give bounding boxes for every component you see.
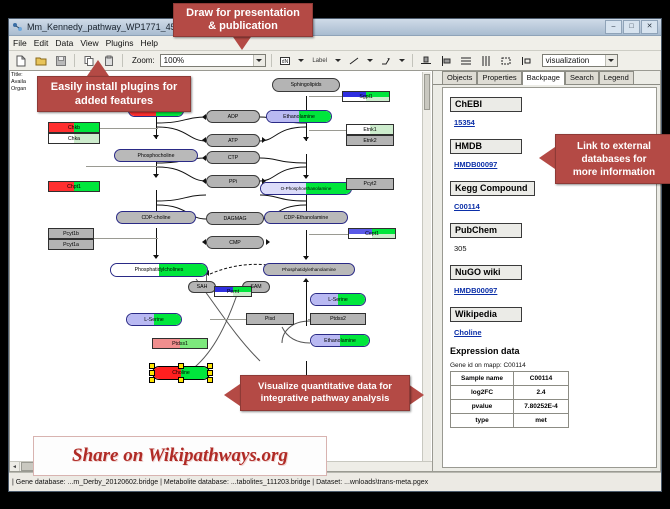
db-entry-nugo: NuGO wiki HMDB00097 [450,262,656,298]
arrow-icon [202,155,206,161]
node-etnk2[interactable]: Etnk2 [346,135,394,146]
tab-legend[interactable]: Legend [599,71,634,84]
node-pcyt1b[interactable]: Pcyt1b [48,228,94,239]
menu-item-edit[interactable]: Edit [34,38,49,48]
node-pcyt1a[interactable]: Pcyt1a [48,239,94,250]
edge [86,166,158,167]
edge [309,130,349,131]
db-entry-pubchem: PubChem 305 [450,220,656,256]
node-o-phosphoethanolamine[interactable]: O-Phosphoethanolamine [260,182,352,195]
interaction-icon[interactable] [378,52,395,69]
tab-search[interactable]: Search [565,71,599,84]
canvas-vertical-scroll-thumb[interactable] [424,74,430,110]
menu-item-data[interactable]: Data [55,38,73,48]
menu-bar: File Edit Data View Plugins Help [9,36,661,51]
callout-share-text: Share on Wikipathways.org [72,445,288,467]
callout-draw-line1: Draw for presentation [186,7,300,20]
cell-value: C00114 [514,372,569,386]
edge [94,238,158,239]
callout-link-line1: Link to external [573,140,655,153]
node-cmp[interactable]: CMP [206,236,264,249]
pathway-info-organism: Organ [11,86,35,93]
tab-properties[interactable]: Properties [477,71,521,84]
new-file-icon[interactable] [12,52,29,69]
edge [98,128,158,129]
node-chka[interactable]: Chka [48,133,100,144]
arrow-icon [202,137,206,143]
node-phosphatidylethanolamine[interactable]: Phosphatidylethanolamine [263,263,355,276]
selection-handle[interactable] [207,363,213,369]
callout-visualize: Visualize quantitative data for integrat… [240,375,410,411]
db-entry-chebi: ChEBI 15354 [450,94,656,130]
db-name-chebi: ChEBI [450,97,522,112]
pathway-info-availability: Availa [11,79,35,86]
pathway-info-title: Title: [11,72,35,79]
edge [306,230,307,259]
node-etnk1[interactable]: Etnk1 [346,124,394,135]
selection-handle[interactable] [149,377,155,383]
ungroup-icon[interactable] [518,52,535,69]
edge [309,234,349,235]
node-adp[interactable]: ADP [206,110,260,123]
callout-link-pointer [539,147,555,169]
callout-visualize-pointer-left [224,384,240,406]
db-link-kegg[interactable]: C00114 [454,202,480,211]
line-dropdown-icon[interactable] [366,53,375,68]
pathvisio-icon [12,22,23,33]
node-atp[interactable]: ATP [206,134,260,147]
node-l-serine-right[interactable]: L-Serine [310,293,366,306]
table-row: Sample name C00114 [451,372,569,386]
zoom-value: 100% [164,56,184,65]
callout-plugins: Easily install plugins for added feature… [37,76,191,112]
node-chkb[interactable]: Chkb [48,122,100,133]
arrow-icon [266,239,270,245]
selection-handle[interactable] [178,363,184,369]
datanode-icon[interactable]: dN [277,52,294,69]
pathvisio-window: Mm_Kennedy_pathway_WP1771_45176.gpml – □… [8,18,662,492]
open-folder-icon[interactable] [32,52,49,69]
db-value-pubchem: 305 [454,244,467,253]
callout-link: Link to external databases for more info… [555,134,670,184]
callout-plugins-line2: added features [51,94,178,108]
cell-value: 2.4 [514,386,569,400]
db-entry-wikipedia: Wikipedia Choline [450,304,656,340]
chevron-down-icon[interactable] [605,55,617,66]
menu-item-file[interactable]: File [13,38,27,48]
node-pisd[interactable]: Pisd [246,313,294,325]
side-panel: Objects Properties Backpage Search Legen… [433,70,661,472]
db-link-chebi[interactable]: 15354 [454,118,475,127]
node-ethanolamine-bottom[interactable]: Ethanolamine [310,334,370,347]
table-row: log2FC 2.4 [451,386,569,400]
arrow-icon [303,256,309,260]
toolbar-separator [412,54,413,67]
expression-table: Sample name C00114 log2FC 2.4 pvalue 7.8… [450,371,569,428]
cell-key: Sample name [451,372,514,386]
minimize-button[interactable]: – [605,20,622,34]
zoom-combo[interactable]: 100% [160,54,266,67]
db-name-wikipedia: Wikipedia [450,307,522,322]
node-dagmag[interactable]: DAGMAG [206,212,264,225]
arrow-icon [303,278,309,282]
db-name-pubchem: PubChem [450,223,522,238]
node-phosphatidylcholines[interactable]: Phosphatidylcholines [110,263,208,277]
arrow-icon [202,178,206,184]
table-row: type met [451,414,569,428]
node-ethanolamine-top[interactable]: Ethanolamine [266,110,332,123]
db-link-wikipedia[interactable]: Choline [454,328,482,337]
workspace: Title: Availa Organ [9,70,661,472]
arrow-icon [303,137,309,141]
node-ptdss1[interactable]: Ptdss1 [152,338,208,349]
align-top-icon[interactable] [418,52,435,69]
node-pemt[interactable]: Pemt [214,286,252,297]
callout-plugins-line1: Easily install plugins for [51,80,178,94]
arrow-icon [202,114,206,120]
selection-handle[interactable] [207,377,213,383]
node-cept1[interactable]: Cept1 [348,228,396,239]
pathway-info: Title: Availa Organ [11,72,35,93]
toolbar-separator [122,54,123,67]
cell-key: pvalue [451,400,514,414]
close-button[interactable]: ✕ [641,20,658,34]
expression-data-heading: Expression data [450,346,656,356]
line-icon[interactable] [346,52,363,69]
cell-value: met [514,414,569,428]
arrow-icon [303,175,309,179]
node-ppi[interactable]: PPi [206,175,260,188]
selection-handle[interactable] [207,370,213,376]
save-icon[interactable] [52,52,69,69]
menu-item-view[interactable]: View [80,38,98,48]
canvas-vertical-scrollbar[interactable] [422,72,431,470]
menu-item-plugins[interactable]: Plugins [106,38,134,48]
zoom-label: Zoom: [132,56,155,65]
db-link-nugo[interactable]: HMDB00097 [454,286,497,295]
db-name-nugo: NuGO wiki [450,265,522,280]
label-icon[interactable]: Label [309,52,331,69]
node-cdp-choline[interactable]: CDP-choline [116,211,196,224]
align-left-icon[interactable] [438,52,455,69]
node-cdp-ethanolamine[interactable]: CDP-Ethanolamine [264,211,348,224]
callout-draw-line2: & publication [186,20,300,33]
distribute-icon[interactable] [478,52,495,69]
arrow-icon [202,239,206,245]
db-link-hmdb[interactable]: HMDB00097 [454,160,497,169]
callout-visualize-pointer-right [408,384,424,406]
callout-plugins-pointer [87,60,109,76]
gene-id-label: Gene id on mapp: C00114 [450,362,656,369]
callout-share: Share on Wikipathways.org [33,436,327,476]
callout-visualize-line1: Visualize quantitative data for [258,381,392,393]
datanode-dropdown-icon[interactable] [297,53,306,68]
selection-handle[interactable] [178,377,184,383]
label-dropdown-icon[interactable] [334,53,343,68]
node-pcyt2[interactable]: Pcyt2 [346,178,394,190]
cell-key: log2FC [451,386,514,400]
table-row: pvalue 7.80252E-4 [451,400,569,414]
cell-value: 7.80252E-4 [514,400,569,414]
window-controls: – □ ✕ [605,20,658,34]
title-bar: Mm_Kennedy_pathway_WP1771_45176.gpml – □… [9,19,661,36]
status-text: | Gene database: ...m_Derby_20120602.bri… [12,479,428,486]
selection-handle[interactable] [149,363,155,369]
node-sah[interactable]: SAH [188,281,216,293]
db-name-kegg: Kegg Compound [450,181,535,196]
node-phosphocholine[interactable]: Phosphocholine [114,149,198,162]
visualization-value: visualization [546,56,590,65]
callout-link-line2: databases for [573,153,655,166]
visualization-combo[interactable]: visualization [542,54,618,67]
selection-handle[interactable] [149,370,155,376]
tab-backpage[interactable]: Backpage [522,71,565,85]
arrow-icon [262,137,266,143]
node-sphingolipids[interactable]: Sphingolipids [272,78,340,92]
interaction-dropdown-icon[interactable] [398,53,407,68]
maximize-button[interactable]: □ [623,20,640,34]
chevron-down-icon[interactable] [253,55,265,66]
cell-key: type [451,414,514,428]
menu-item-help[interactable]: Help [141,38,158,48]
side-panel-tabs: Objects Properties Backpage Search Legen… [433,71,660,85]
node-l-serine-left[interactable]: L-Serine [126,313,182,326]
arrow-icon [262,178,266,184]
node-ctp[interactable]: CTP [206,151,260,164]
toolbar-separator [74,54,75,67]
svg-text:dN: dN [282,59,289,65]
edge [306,281,307,326]
group-icon[interactable] [498,52,515,69]
node-chpt1[interactable]: Chpt1 [48,181,100,192]
callout-draw: Draw for presentation & publication [173,3,313,37]
callout-link-line3: more information [573,166,655,179]
toolbar-separator [271,54,272,67]
node-sgpl1[interactable]: Sgpl1 [342,91,390,102]
callout-visualize-line2: integrative pathway analysis [258,393,392,405]
db-name-hmdb: HMDB [450,139,522,154]
node-ptdss2[interactable]: Ptdss2 [310,313,366,325]
scroll-left-icon[interactable]: ◄ [10,462,20,471]
pathway-canvas[interactable]: Title: Availa Organ [9,70,433,472]
tab-objects[interactable]: Objects [442,71,477,84]
stack-vertical-icon[interactable] [458,52,475,69]
